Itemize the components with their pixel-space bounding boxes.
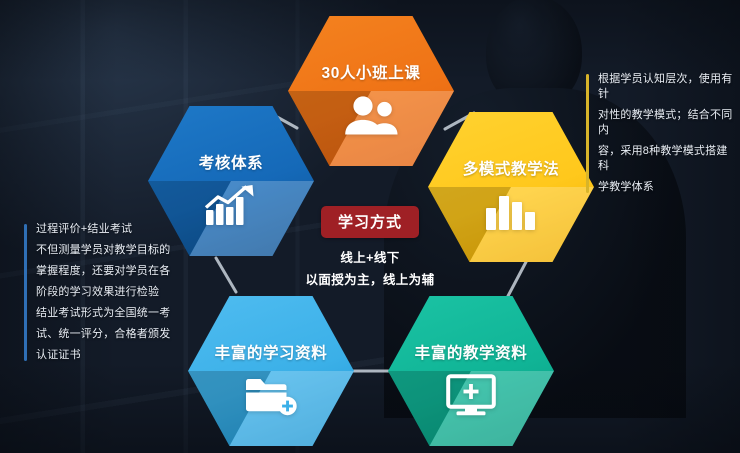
hexagon-title: 丰富的教学资料 bbox=[388, 341, 554, 363]
center-line-1: 线上+线下 bbox=[250, 247, 490, 266]
hexagon-title: 30人小班上课 bbox=[288, 61, 454, 83]
annotation-right-line: 容，采用8种教学模式搭建科 bbox=[598, 144, 736, 174]
study-mode-badge: 学习方式 bbox=[321, 206, 419, 238]
annotation-left: 过程评价+结业考试 不但测量学员对教学目标的 掌握程度，还要对学员在各 阶段的学… bbox=[24, 222, 176, 363]
bar-chart-icon bbox=[485, 191, 537, 231]
annotation-left-line: 掌握程度，还要对学员在各 bbox=[36, 264, 176, 279]
center-label-group: 学习方式 线上+线下 以面授为主，线上为辅 bbox=[250, 206, 490, 288]
annotation-right-line: 学教学体系 bbox=[598, 180, 736, 195]
annotation-left-accent-bar bbox=[24, 224, 27, 361]
folder-add-icon bbox=[244, 374, 298, 416]
annotation-right-accent-bar bbox=[586, 74, 589, 193]
annotation-left-line: 阶段的学习效果进行检验 bbox=[36, 285, 176, 300]
annotation-left-line: 过程评价+结业考试 bbox=[36, 222, 176, 237]
hexagon-title: 多模式教学法 bbox=[428, 157, 594, 179]
annotation-left-line: 结业考试形式为全国统一考 bbox=[36, 306, 176, 321]
annotation-right-body: 根据学员认知层次，使用有针 对性的教学模式；结合不同内 容，采用8种教学模式搭建… bbox=[586, 72, 736, 195]
annotation-right-line: 对性的教学模式；结合不同内 bbox=[598, 108, 736, 138]
annotation-left-line: 试、统一评分，合格者颁发 bbox=[36, 327, 176, 342]
infographic-canvas: 30人小班上课 考核体系 bbox=[0, 0, 740, 453]
annotation-right-line: 根据学员认知层次，使用有针 bbox=[598, 72, 736, 102]
center-line-2: 以面授为主，线上为辅 bbox=[250, 269, 490, 288]
connector-left-to-bl bbox=[216, 258, 236, 292]
annotation-left-line: 认证证书 bbox=[36, 348, 176, 363]
annotation-left-line: 不但测量学员对教学目标的 bbox=[36, 243, 176, 258]
monitor-add-icon bbox=[446, 374, 496, 416]
annotation-right: 根据学员认知层次，使用有针 对性的教学模式；结合不同内 容，采用8种教学模式搭建… bbox=[586, 72, 736, 195]
connector-right-to-br bbox=[508, 262, 526, 296]
hexagon-title: 考核体系 bbox=[148, 151, 314, 173]
hexagon-title: 丰富的学习资料 bbox=[188, 341, 354, 363]
annotation-left-body: 过程评价+结业考试 不但测量学员对教学目标的 掌握程度，还要对学员在各 阶段的学… bbox=[24, 222, 176, 363]
two-people-icon bbox=[342, 95, 400, 135]
